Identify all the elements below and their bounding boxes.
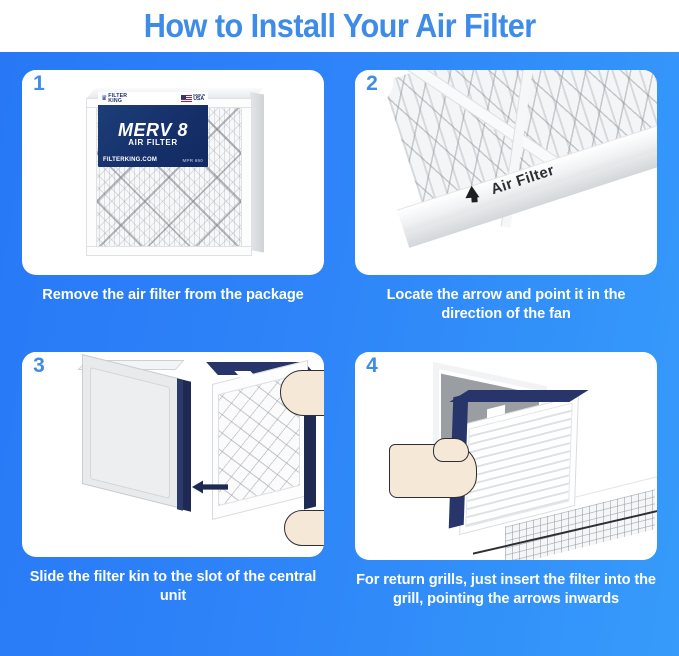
brand-line-2: KING [108, 99, 127, 104]
usa-label: USA [193, 96, 204, 102]
label-header-strip: ♛ FILTER KING MADE IN USA [98, 92, 208, 105]
header-bar: How to Install Your Air Filter [0, 0, 679, 52]
merv-rating: MERV 8 [98, 121, 208, 139]
step-2-card: Air Filter 2 [355, 70, 657, 275]
central-unit-side-light [177, 379, 183, 510]
step-1-caption: Remove the air filter from the package [22, 286, 324, 305]
step-3: 3 Slide the filter kin to the slot of th… [22, 352, 324, 606]
step-2-number: 2 [366, 73, 378, 94]
filter-frame-left [86, 98, 97, 256]
step-4-number: 4 [366, 355, 378, 376]
step-4: 4 For return grills, just insert the fil… [355, 352, 657, 609]
usa-flag-icon [181, 95, 192, 102]
made-in-usa-text: MADE IN USA [193, 94, 205, 102]
infographic-page: How to Install Your Air Filter [0, 0, 679, 656]
hand-lower [284, 510, 324, 546]
steps-board: MERV 8 AIR FILTER FILTERKING.COM MPR 650… [0, 52, 679, 656]
hand-upper [280, 370, 324, 416]
insert-direction-arrow-icon [192, 480, 228, 494]
step-2-caption: Locate the arrow and point it in the dir… [355, 286, 657, 324]
product-label: MERV 8 AIR FILTER FILTERKING.COM MPR 650 [98, 101, 208, 167]
central-unit-slot [90, 367, 170, 499]
step-2: Air Filter 2 Locate the arrow and point … [355, 70, 657, 324]
filter-corner-photo: Air Filter [355, 70, 657, 275]
airflow-arrow-tail [471, 196, 477, 202]
steps-grid: MERV 8 AIR FILTER FILTERKING.COM MPR 650… [0, 52, 679, 656]
step-1: MERV 8 AIR FILTER FILTERKING.COM MPR 650… [22, 70, 324, 305]
slide-filter-illustration [22, 352, 324, 557]
filter-king-logo: ♛ FILTER KING [101, 94, 127, 104]
filter-frame-bottom [86, 246, 252, 256]
filter4-top-edge [449, 390, 588, 402]
made-in-usa-badge: MADE IN USA [181, 94, 205, 102]
step-1-number: 1 [33, 73, 45, 94]
label-footer: FILTERKING.COM MPR 650 [103, 157, 203, 163]
return-grill-illustration [355, 352, 657, 560]
air-filter-product-photo: MERV 8 AIR FILTER FILTERKING.COM MPR 650… [82, 92, 264, 260]
filter-corner-group: Air Filter [358, 70, 657, 275]
filter-frame-right [241, 98, 252, 256]
step-3-caption: Slide the filter kin to the slot of the … [22, 568, 324, 606]
step-1-card: MERV 8 AIR FILTER FILTERKING.COM MPR 650… [22, 70, 324, 275]
crown-icon: ♛ [101, 95, 107, 102]
step-3-card: 3 [22, 352, 324, 557]
brand-website: FILTERKING.COM [103, 157, 157, 163]
step-1-badge: 1 [22, 70, 60, 104]
product-type: AIR FILTER [98, 139, 208, 147]
page-title: How to Install Your Air Filter [144, 8, 536, 44]
mpr-rating: MPR 650 [182, 158, 203, 163]
step-4-card: 4 [355, 352, 657, 560]
step-3-number: 3 [33, 355, 45, 376]
brand-name-block: FILTER KING [108, 94, 127, 104]
step-4-caption: For return grills, just insert the filte… [355, 571, 657, 609]
hand-thumb [433, 438, 469, 462]
filter-side-face [250, 92, 264, 252]
